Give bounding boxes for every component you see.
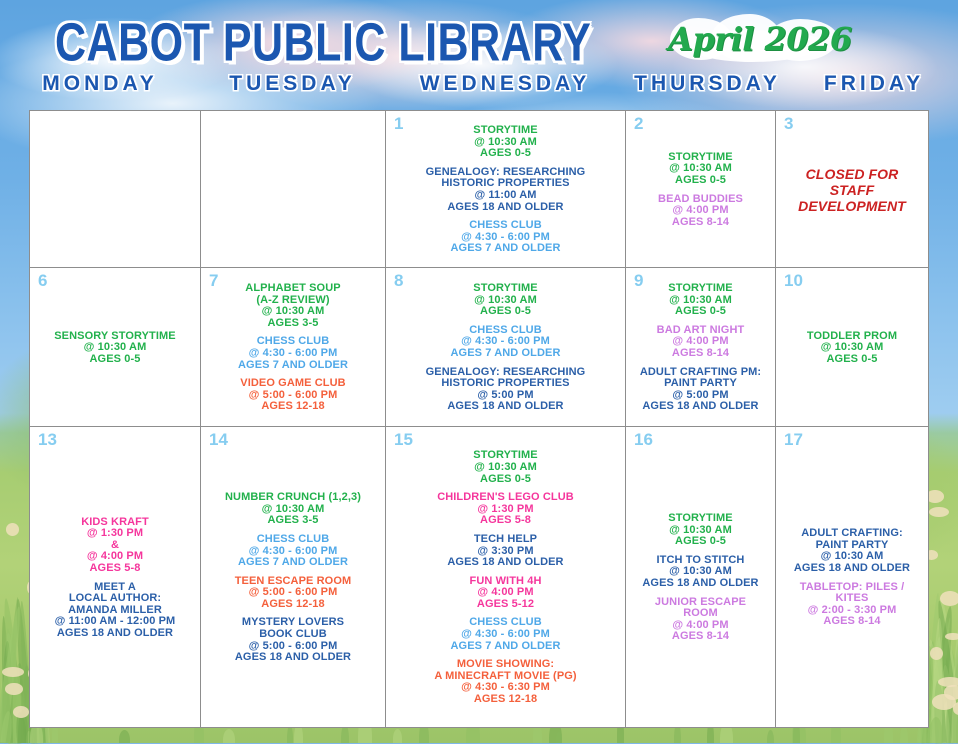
event-entry[interactable]: CHESS CLUB @ 4:30 - 6:00 PM AGES 7 AND O… <box>238 336 348 371</box>
flower-petal <box>945 633 958 640</box>
day-number: 1 <box>394 115 403 134</box>
day-number: 3 <box>784 115 793 134</box>
event-entry[interactable]: STORYTIME @ 10:30 AM AGES 0-5 <box>668 283 732 318</box>
day-number: 8 <box>394 272 403 291</box>
day-cell-7[interactable]: 7ALPHABET SOUP (A-Z REVIEW) @ 10:30 AM A… <box>201 268 386 426</box>
flower-petal <box>5 683 22 695</box>
event-entry[interactable]: SENSORY STORYTIME @ 10:30 AM AGES 0-5 <box>54 331 176 366</box>
day-number: 9 <box>634 272 643 291</box>
event-entry[interactable]: GENEALOGY: RESEARCHING HISTORIC PROPERTI… <box>426 167 586 213</box>
event-list: STORYTIME @ 10:30 AM AGES 0-5GENEALOGY: … <box>390 125 621 255</box>
day-cell-16[interactable]: 16STORYTIME @ 10:30 AM AGES 0-5ITCH TO S… <box>626 427 776 727</box>
day-cell-1[interactable]: 1STORYTIME @ 10:30 AM AGES 0-5GENEALOGY:… <box>386 111 626 267</box>
day-cell-empty[interactable] <box>30 111 201 267</box>
event-entry[interactable]: CHESS CLUB @ 4:30 - 6:00 PM AGES 7 AND O… <box>451 325 561 360</box>
event-entry[interactable]: ADULT CRAFTING: PAINT PARTY @ 10:30 AM A… <box>794 528 910 574</box>
flower-petal <box>940 591 958 606</box>
event-entry[interactable]: STORYTIME @ 10:30 AM AGES 0-5 <box>668 152 732 187</box>
weekday-label-monday: MONDAY <box>0 70 200 102</box>
event-entry[interactable]: CLOSED FOR STAFF DEVELOPMENT <box>798 166 906 214</box>
event-list: KIDS KRAFT @ 1:30 PM & @ 4:00 PM AGES 5-… <box>34 517 196 640</box>
day-cell-3[interactable]: 3CLOSED FOR STAFF DEVELOPMENT <box>776 111 928 267</box>
event-list: NUMBER CRUNCH (1,2,3) @ 10:30 AM AGES 3-… <box>205 492 381 664</box>
month-label: April 2026 <box>668 14 848 64</box>
event-list: STORYTIME @ 10:30 AM AGES 0-5BAD ART NIG… <box>630 283 771 413</box>
event-entry[interactable]: STORYTIME @ 10:30 AM AGES 0-5 <box>473 283 537 318</box>
event-entry[interactable]: MEET A LOCAL AUTHOR: AMANDA MILLER @ 11:… <box>55 582 176 640</box>
event-list: STORYTIME @ 10:30 AM AGES 0-5CHILDREN'S … <box>390 450 621 705</box>
weekday-label-thursday: THURSDAY <box>625 70 790 102</box>
event-entry[interactable]: STORYTIME @ 10:30 AM AGES 0-5 <box>473 125 537 160</box>
flower-petal <box>6 523 19 536</box>
event-entry[interactable]: TABLETOP: PILES / KITES @ 2:00 - 3:30 PM… <box>800 582 905 628</box>
month-badge: April 2026 <box>668 14 848 64</box>
event-entry[interactable]: BEAD BUDDIES @ 4:00 PM AGES 8-14 <box>658 194 743 229</box>
day-number: 17 <box>784 431 803 450</box>
page-title: CABOT PUBLIC LIBRARY <box>55 13 591 74</box>
event-entry[interactable]: STORYTIME @ 10:30 AM AGES 0-5 <box>668 513 732 548</box>
event-list: TODDLER PROM @ 10:30 AM AGES 0-5 <box>780 331 924 366</box>
day-cell-empty[interactable] <box>201 111 386 267</box>
day-cell-9[interactable]: 9STORYTIME @ 10:30 AM AGES 0-5BAD ART NI… <box>626 268 776 426</box>
day-number: 16 <box>634 431 653 450</box>
event-list: ALPHABET SOUP (A-Z REVIEW) @ 10:30 AM AG… <box>205 283 381 413</box>
day-number: 15 <box>394 431 413 450</box>
day-cell-15[interactable]: 15STORYTIME @ 10:30 AM AGES 0-5CHILDREN'… <box>386 427 626 727</box>
day-cell-13[interactable]: 13KIDS KRAFT @ 1:30 PM & @ 4:00 PM AGES … <box>30 427 201 727</box>
event-entry[interactable]: CHESS CLUB @ 4:30 - 6:00 PM AGES 7 AND O… <box>451 617 561 652</box>
flower-petal <box>926 490 944 502</box>
event-list: STORYTIME @ 10:30 AM AGES 0-5CHESS CLUB … <box>390 283 621 413</box>
event-list: ADULT CRAFTING: PAINT PARTY @ 10:30 AM A… <box>780 528 924 628</box>
event-list: STORYTIME @ 10:30 AM AGES 0-5ITCH TO STI… <box>630 513 771 643</box>
day-number: 2 <box>634 115 643 134</box>
day-number: 14 <box>209 431 228 450</box>
day-cell-2[interactable]: 2STORYTIME @ 10:30 AM AGES 0-5BEAD BUDDI… <box>626 111 776 267</box>
event-entry[interactable]: VIDEO GAME CLUB @ 5:00 - 6:00 PM AGES 12… <box>240 378 345 413</box>
event-entry[interactable]: MOVIE SHOWING: A MINECRAFT MOVIE (PG) @ … <box>434 659 576 705</box>
day-number: 6 <box>38 272 47 291</box>
event-entry[interactable]: JUNIOR ESCAPE ROOM @ 4:00 PM AGES 8-14 <box>655 597 746 643</box>
event-entry[interactable]: ADULT CRAFTING PM: PAINT PARTY @ 5:00 PM… <box>640 367 761 413</box>
event-entry[interactable]: STORYTIME @ 10:30 AM AGES 0-5 <box>473 450 537 485</box>
event-entry[interactable]: ITCH TO STITCH @ 10:30 AM AGES 18 AND OL… <box>642 555 758 590</box>
weekday-label-friday: FRIDAY <box>790 70 958 102</box>
weekday-label-tuesday: TUESDAY <box>200 70 385 102</box>
event-entry[interactable]: BAD ART NIGHT @ 4:00 PM AGES 8-14 <box>657 325 745 360</box>
calendar-week-row: 1STORYTIME @ 10:30 AM AGES 0-5GENEALOGY:… <box>30 111 928 268</box>
day-cell-6[interactable]: 6SENSORY STORYTIME @ 10:30 AM AGES 0-5 <box>30 268 201 426</box>
event-entry[interactable]: KIDS KRAFT @ 1:30 PM & @ 4:00 PM AGES 5-… <box>81 517 149 575</box>
event-entry[interactable]: CHESS CLUB @ 4:30 - 6:00 PM AGES 7 AND O… <box>238 534 348 569</box>
event-entry[interactable]: TODDLER PROM @ 10:30 AM AGES 0-5 <box>807 331 897 366</box>
flower-petal <box>929 507 949 517</box>
event-entry[interactable]: FUN WITH 4H @ 4:00 PM AGES 5-12 <box>470 576 542 611</box>
calendar-week-row: 6SENSORY STORYTIME @ 10:30 AM AGES 0-57A… <box>30 268 928 427</box>
event-entry[interactable]: MYSTERY LOVERS BOOK CLUB @ 5:00 - 6:00 P… <box>235 617 351 663</box>
event-list: SENSORY STORYTIME @ 10:30 AM AGES 0-5 <box>34 331 196 366</box>
calendar-week-row: 13KIDS KRAFT @ 1:30 PM & @ 4:00 PM AGES … <box>30 427 928 727</box>
day-cell-17[interactable]: 17ADULT CRAFTING: PAINT PARTY @ 10:30 AM… <box>776 427 928 727</box>
day-cell-14[interactable]: 14NUMBER CRUNCH (1,2,3) @ 10:30 AM AGES … <box>201 427 386 727</box>
event-entry[interactable]: CHILDREN'S LEGO CLUB @ 1:30 PM AGES 5-8 <box>437 492 574 527</box>
event-entry[interactable]: GENEALOGY: RESEARCHING HISTORIC PROPERTI… <box>426 367 586 413</box>
calendar-grid: 1STORYTIME @ 10:30 AM AGES 0-5GENEALOGY:… <box>29 110 929 728</box>
event-list: CLOSED FOR STAFF DEVELOPMENT <box>780 166 924 214</box>
weekday-label-wednesday: WEDNESDAY <box>385 70 625 102</box>
event-entry[interactable]: TEEN ESCAPE ROOM @ 5:00 - 6:00 PM AGES 1… <box>235 576 352 611</box>
event-entry[interactable]: NUMBER CRUNCH (1,2,3) @ 10:30 AM AGES 3-… <box>225 492 361 527</box>
event-entry[interactable]: TECH HELP @ 3:30 PM AGES 18 AND OLDER <box>447 534 563 569</box>
event-list: STORYTIME @ 10:30 AM AGES 0-5BEAD BUDDIE… <box>630 152 771 229</box>
day-number: 7 <box>209 272 218 291</box>
day-cell-10[interactable]: 10TODDLER PROM @ 10:30 AM AGES 0-5 <box>776 268 928 426</box>
weekday-header-row: MONDAY TUESDAY WEDNESDAY THURSDAY FRIDAY <box>0 70 958 102</box>
day-number: 10 <box>784 272 803 291</box>
day-cell-8[interactable]: 8STORYTIME @ 10:30 AM AGES 0-5CHESS CLUB… <box>386 268 626 426</box>
day-number: 13 <box>38 431 57 450</box>
event-entry[interactable]: ALPHABET SOUP (A-Z REVIEW) @ 10:30 AM AG… <box>245 283 340 329</box>
event-entry[interactable]: CHESS CLUB @ 4:30 - 6:00 PM AGES 7 AND O… <box>451 220 561 255</box>
